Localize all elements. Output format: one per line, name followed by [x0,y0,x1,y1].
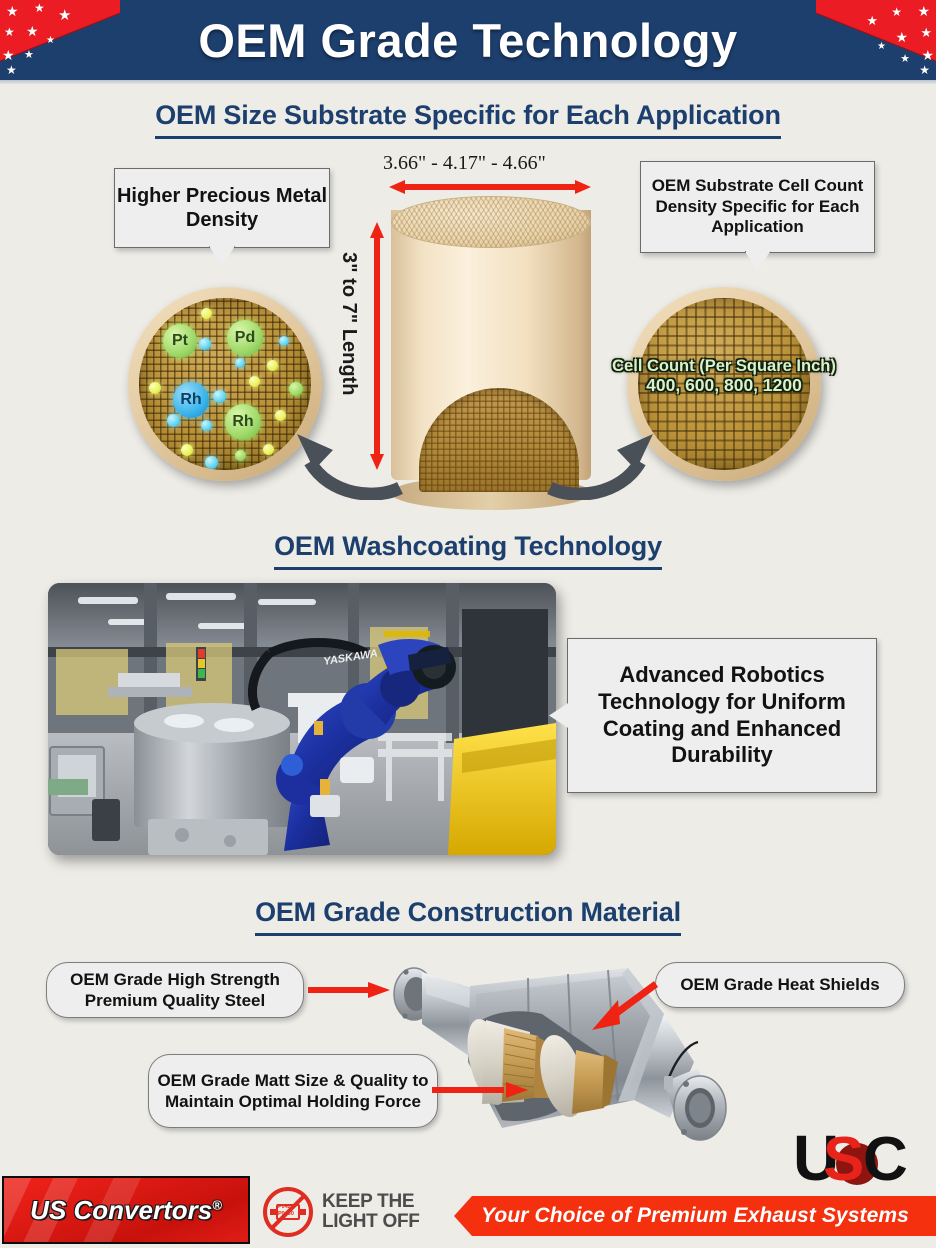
dtc-code-1: P0420 [278,1204,294,1210]
section-heading-construction-text: OEM Grade Construction Material [255,897,681,936]
washcoating-robot-photo: YASKAWA [48,583,556,855]
label-heat-shields: OEM Grade Heat Shields [655,962,905,1008]
particle-icon [279,336,289,346]
curved-arrow-left-icon [280,400,410,500]
diameter-dimension-label: 3.66" - 4.17" - 4.66" [383,152,546,175]
callout-oem-substrate-cell-count-text: OEM Substrate Cell Count Density Specifi… [641,176,874,238]
no-check-engine-light-icon: P0420 P0430 [262,1186,314,1238]
callout-tail-icon [745,251,771,271]
particle-icon [199,338,211,350]
usc-logo-graphic: U S C [795,1122,923,1194]
arrow-shaft [401,184,579,190]
length-dimension-label: 3" to 7" Length [337,252,360,395]
arrow-head-icon [506,1082,528,1098]
robot-photo-graphic: YASKAWA [48,583,556,855]
page-title: OEM Grade Technology [0,0,936,80]
pipe-right-icon [298,1209,306,1215]
precious-metal-rh-blue: Rh [173,382,209,418]
section-heading-construction: OEM Grade Construction Material [0,897,936,936]
callout-higher-precious-metal-density-text: Higher Precious Metal Density [115,184,329,233]
particle-icon [167,414,180,427]
particle-icon [213,390,226,403]
particle-icon [289,382,303,396]
header-underline [0,80,936,84]
particle-icon [181,444,193,456]
diameter-dimension-arrow [389,180,591,194]
arrow-shaft [432,1087,504,1093]
page-header: ★ ★ ★ ★ ★ ★ ★ ★ ★ ★ ★ ★ ★ ★ ★ ★ ★ ★ OEM … [0,0,936,80]
usc-brand-logo: U S C [795,1122,923,1194]
callout-tail-icon [209,246,235,266]
label-high-strength-steel-text: OEM Grade High Strength Premium Quality … [47,969,303,1012]
section-heading-substrate-text: OEM Size Substrate Specific for Each App… [155,100,781,139]
label-matt-size-quality: OEM Grade Matt Size & Quality to Maintai… [148,1054,438,1128]
infographic-page: ★ ★ ★ ★ ★ ★ ★ ★ ★ ★ ★ ★ ★ ★ ★ ★ ★ ★ OEM … [0,0,936,1248]
arrow-to-matt-icon [432,1082,528,1098]
cell-count-title: Cell Count (Per Square Inch) [599,357,849,375]
cylinder-top-honeycomb-face [391,196,591,248]
callout-oem-substrate-cell-count: OEM Substrate Cell Count Density Specifi… [640,161,875,253]
cell-count-values: 400, 600, 800, 1200 [599,376,849,396]
keep-light-line-1: KEEP THE [322,1191,414,1212]
particle-icon [267,360,278,371]
precious-metal-pt: Pt [163,324,197,358]
arrow-to-heat-shields-icon [586,978,660,1034]
arrow-head-icon [368,982,390,998]
section-heading-substrate: OEM Size Substrate Specific for Each App… [0,100,936,139]
callout-higher-precious-metal-density: Higher Precious Metal Density [114,168,330,248]
label-heat-shields-text: OEM Grade Heat Shields [680,974,879,995]
curved-arrow-right-icon [540,400,670,500]
usc-logo-c: C [863,1125,908,1194]
particle-icon [205,456,218,469]
usc-logo-s: S [823,1125,864,1194]
arrow-shaft [308,987,370,993]
particle-icon [263,444,274,455]
section-heading-washcoating: OEM Washcoating Technology [0,531,936,570]
us-convertors-logo-text: US Convertors® [30,1195,222,1226]
converter-glyph-icon: P0420 P0430 [270,1202,306,1222]
particle-icon [235,358,245,368]
us-convertors-logo: US Convertors® [2,1176,250,1244]
dtc-codes: P0420 P0430 [278,1204,294,1218]
particle-icon [149,382,161,394]
particle-icon [235,450,246,461]
keep-light-line-2: LIGHT OFF [322,1211,420,1232]
particle-icon [201,308,212,319]
callout-advanced-robotics: Advanced Robotics Technology for Uniform… [567,638,877,793]
precious-metal-pd: Pd [227,320,263,356]
arrow-head-right-icon [575,180,591,194]
particle-icon [201,420,212,431]
precious-metal-rh-green: Rh [225,404,261,440]
keep-the-light-off-badge: P0420 P0430 KEEP THE LIGHT OFF [262,1184,434,1240]
dtc-code-2: P0430 [278,1211,294,1217]
section-heading-washcoating-text: OEM Washcoating Technology [274,531,662,570]
keep-the-light-off-text: KEEP THE LIGHT OFF [322,1192,420,1232]
label-matt-size-quality-text: OEM Grade Matt Size & Quality to Maintai… [149,1070,437,1113]
tagline-banner: Your Choice of Premium Exhaust Systems [454,1196,936,1236]
arrow-to-steel-icon [308,982,390,998]
particle-icon [249,376,260,387]
label-high-strength-steel: OEM Grade High Strength Premium Quality … [46,962,304,1018]
tagline-text: Your Choice of Premium Exhaust Systems [481,1204,909,1228]
callout-advanced-robotics-text: Advanced Robotics Technology for Uniform… [568,662,876,769]
